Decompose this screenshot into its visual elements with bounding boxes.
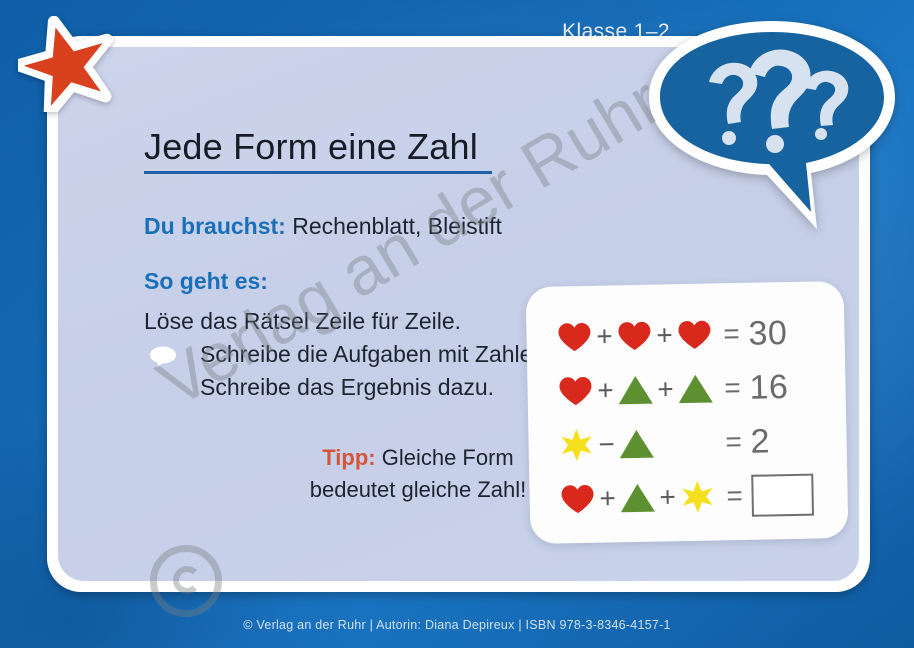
answer-input-box[interactable] bbox=[751, 474, 814, 517]
star-icon bbox=[677, 479, 718, 514]
materials-label: Du brauchst: bbox=[144, 213, 286, 239]
tip-line-1: Gleiche Form bbox=[382, 445, 514, 470]
step-3: Schreibe das Ergebnis dazu. bbox=[200, 374, 494, 400]
operator-plus: + bbox=[595, 374, 616, 406]
triangle-icon bbox=[615, 375, 656, 406]
triangle-icon bbox=[675, 373, 716, 404]
operator-plus: + bbox=[597, 482, 618, 514]
equation-result: 2 bbox=[750, 421, 809, 461]
equation-result: 30 bbox=[748, 313, 807, 353]
equals-sign: = bbox=[714, 318, 749, 351]
equation-row: + + = 30 bbox=[526, 305, 845, 365]
equals-sign: = bbox=[716, 426, 751, 459]
tip-label: Tipp: bbox=[322, 445, 375, 470]
equals-sign: = bbox=[717, 480, 752, 513]
footer-credits: © Verlag an der Ruhr | Autorin: Diana De… bbox=[0, 618, 914, 632]
heart-icon bbox=[555, 376, 596, 407]
equation-row: − = 2 bbox=[528, 413, 847, 473]
equation-result: 16 bbox=[749, 367, 808, 407]
tip-line-2: bedeutet gleiche Zahl! bbox=[268, 474, 568, 506]
triangle-icon bbox=[616, 429, 657, 460]
equation-list: + + = 30 + bbox=[526, 305, 848, 527]
star-icon bbox=[556, 428, 597, 463]
triangle-icon bbox=[617, 483, 658, 514]
equals-sign: = bbox=[715, 372, 750, 405]
operator-minus: − bbox=[596, 428, 617, 460]
heart-icon bbox=[554, 322, 595, 353]
heart-icon bbox=[614, 321, 655, 352]
page-title: Jede Form eine Zahl bbox=[144, 127, 614, 167]
star-decoration-icon bbox=[18, 16, 114, 112]
operator-plus: + bbox=[655, 373, 676, 405]
equation-row: + + = bbox=[529, 467, 848, 527]
worksheet-card-page: Klasse 1–2 Jede Form eine Zahl Du brauch… bbox=[0, 0, 914, 648]
speech-bubble-icon bbox=[149, 345, 179, 369]
operator-plus: + bbox=[594, 320, 615, 352]
tip-block: Tipp: Gleiche Form bedeutet gleiche Zahl… bbox=[268, 442, 568, 506]
instructions-label: So geht es: bbox=[144, 268, 268, 294]
materials-value: Rechenblatt, Bleistift bbox=[292, 213, 502, 239]
title-underline bbox=[144, 171, 492, 174]
step-2: Schreibe die Aufgaben mit Zahlen. bbox=[200, 341, 552, 367]
heart-icon bbox=[674, 319, 715, 350]
operator-plus: + bbox=[654, 319, 675, 351]
operator-plus: + bbox=[657, 481, 678, 513]
equation-row: + + = 16 bbox=[527, 359, 846, 419]
heart-icon bbox=[557, 484, 598, 515]
empty-term-slot bbox=[657, 442, 717, 443]
materials-row: Du brauchst: Rechenblatt, Bleistift bbox=[144, 212, 614, 242]
puzzle-panel: + + = 30 + bbox=[526, 281, 849, 544]
question-bubble bbox=[641, 13, 903, 238]
